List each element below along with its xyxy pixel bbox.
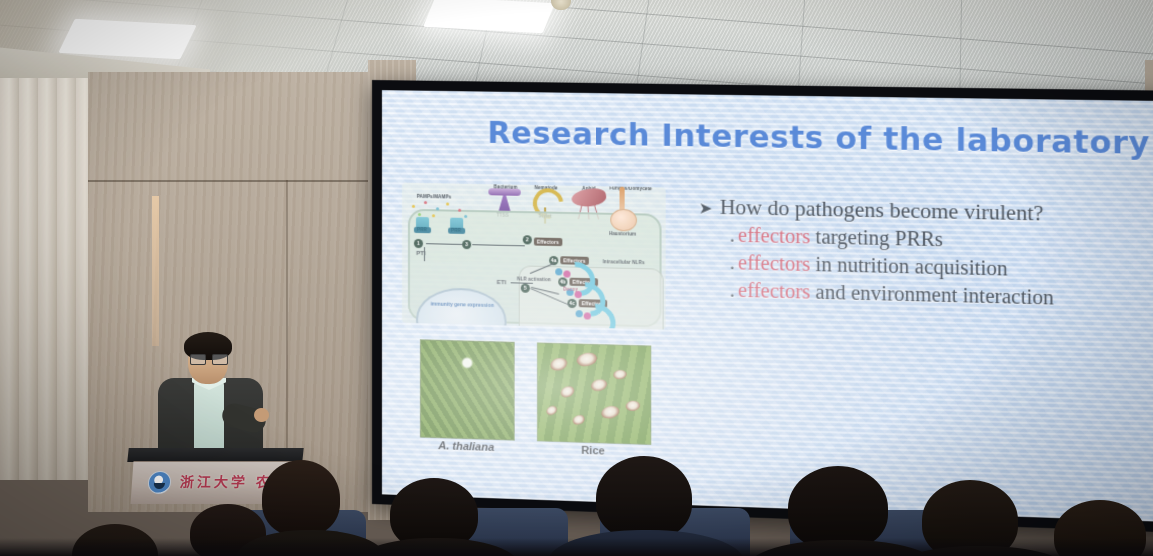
diagram-nucleus-text: immunity gene expression (430, 301, 494, 309)
bullet-rest-3: and environment interaction (810, 281, 1054, 309)
bullet-dot-icon-1: . (730, 224, 735, 247)
bullet-rest-2: in nutrition acquisition (810, 254, 1007, 281)
slide-title: Research Interests of the laboratory (487, 116, 1150, 162)
bullet-arrow-icon: ➤ (699, 198, 713, 219)
bullet-dot-icon-2: . (730, 252, 735, 275)
bullet-main-text: How do pathogens become virulent? (720, 195, 1044, 226)
wall-light-strip (152, 196, 159, 346)
diagram-label-pamps: PAMPs/MAMPs (408, 194, 460, 200)
diagram-haustorium-shape (610, 209, 637, 232)
blinds-shading (0, 78, 92, 480)
foreground-shadow (0, 538, 1153, 556)
diagram-ttss-shape (498, 195, 510, 211)
bullet-dot-icon-3: . (730, 279, 735, 302)
diagram-effectors-1: Effectors (534, 237, 562, 246)
bullet-highlight-3: effectors (738, 280, 810, 304)
slide-bullet-list: ➤How do pathogens become virulent? .effe… (699, 194, 1153, 314)
diagram-step-3: 3 (462, 240, 471, 249)
diagram-label-eti: ETI (490, 280, 512, 287)
diagram-label-decoy: Decoy (555, 286, 586, 292)
diagram-step-2: 2 (523, 235, 532, 244)
vertical-blinds[interactable] (0, 78, 92, 480)
diagram-label-nlrs: Intracellular NLRs (600, 259, 647, 265)
photo-arabidopsis (420, 339, 515, 440)
immunity-pathway-diagram: PAMPs/MAMPs Bacterium Nematode Aphid Fun… (402, 183, 666, 330)
diagram-label-pti: PTI (410, 251, 432, 258)
diagram-label-haustorium: Haustorium (600, 231, 645, 237)
diagram-step-5: 5 (521, 284, 530, 293)
bullet-sub-3: .effectors and environment interaction (699, 279, 1153, 315)
bullet-highlight-2: effectors (738, 252, 810, 276)
glasses-icon (190, 354, 226, 363)
diagram-prr-label-2: PRR (446, 228, 466, 234)
presenter-hand (254, 408, 269, 422)
diagram-label-fungus: Fungus/Oomycete (608, 185, 653, 191)
diagram-prr-label-1: PRR (412, 227, 432, 233)
audience-head (596, 456, 692, 540)
lecture-hall-photo: Research Interests of the laboratory PAM… (0, 0, 1153, 556)
audience-head (262, 460, 340, 536)
diagram-step-1: 1 (414, 239, 423, 248)
diagram-nucleus: immunity gene expression Nucleus (416, 287, 507, 330)
bullet-rest-1: targeting PRRs (810, 226, 943, 251)
ceiling-light-panel-left (58, 19, 196, 60)
bullet-highlight-1: effectors (738, 225, 810, 249)
diagram-bacterium-shape (488, 188, 520, 196)
